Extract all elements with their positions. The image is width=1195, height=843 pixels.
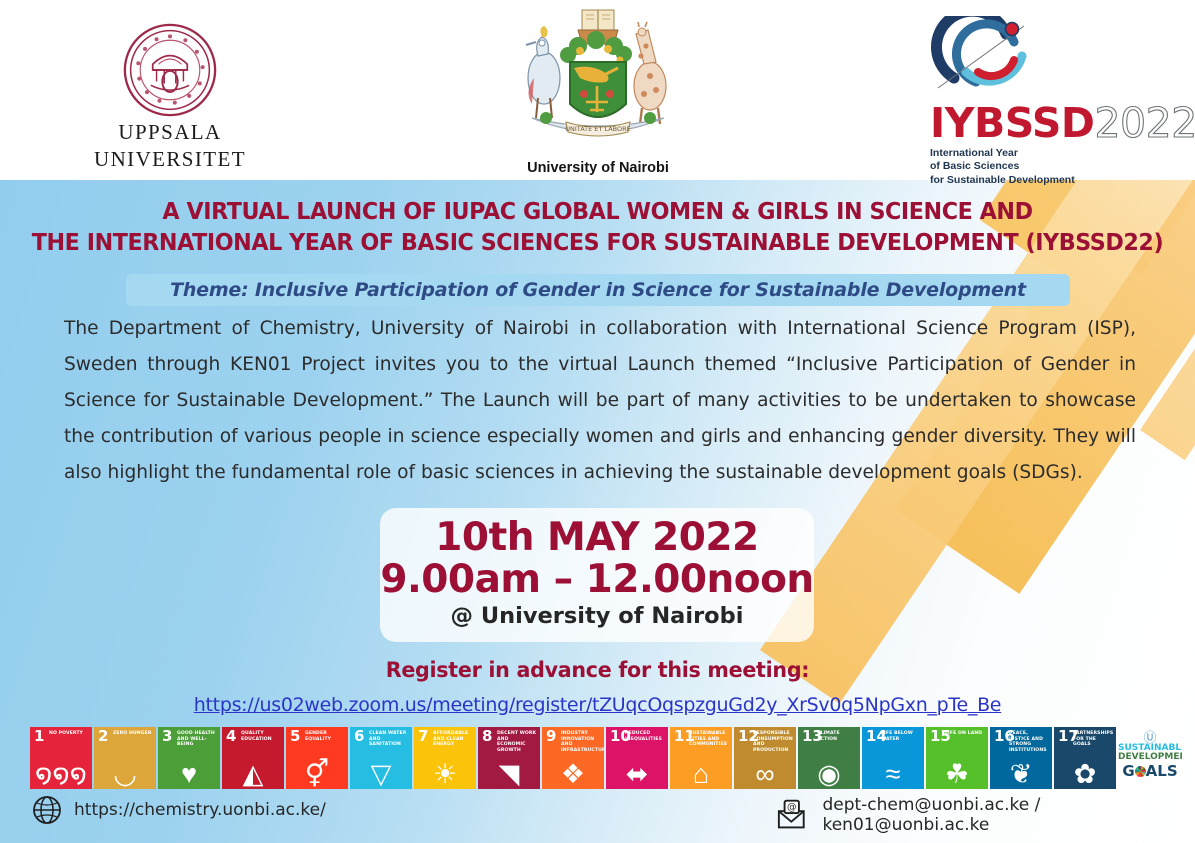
sdg-number: 5 — [290, 729, 300, 744]
sdg-goal-2[interactable]: 2 ZERO HUNGER ◡ — [94, 727, 156, 789]
poster-title: A VIRTUAL LAUNCH OF IUPAC GLOBAL WOMEN &… — [0, 196, 1195, 258]
sdg-number: 8 — [482, 729, 492, 744]
university-of-nairobi-logo: UNITATE ET LABORE University of Nairobi — [478, 6, 718, 178]
sdg-goal-10[interactable]: 10 REDUCED INEQUALITIES ⬌ — [606, 727, 668, 789]
uppsala-logo-line2: UNIVERSITET — [60, 148, 280, 172]
sdg-name: LIFE ON LAND — [945, 731, 986, 737]
email-icon: @ — [776, 799, 808, 831]
theme-text: Theme: Inclusive Participation of Gender… — [170, 279, 1026, 301]
sdg-number: 6 — [354, 729, 364, 744]
iybssd-year: 2022 — [1094, 99, 1195, 147]
sdg-name: RESPONSIBLE CONSUMPTION AND PRODUCTION — [753, 731, 794, 753]
iybssd-wordmark: IYBSSD2022 — [930, 103, 1175, 144]
sdg-name: CLEAN WATER AND SANITATION — [369, 731, 410, 748]
sdg-goal-1[interactable]: 1 NO POVERTY ໑໑໑ — [30, 727, 92, 789]
sdg-glyph-icon: ♥ — [158, 761, 220, 788]
sdg-glyph-icon: ✿ — [1054, 761, 1116, 788]
sdg-goal-4[interactable]: 4 QUALITY EDUCATION ◭ — [222, 727, 284, 789]
sdg-goal-12[interactable]: 12 RESPONSIBLE CONSUMPTION AND PRODUCTIO… — [734, 727, 796, 789]
sdg-number: 7 — [418, 729, 428, 744]
sdg-glyph-icon: ໑໑໑ — [30, 761, 92, 788]
nairobi-coat-of-arms-icon: UNITATE ET LABORE — [508, 6, 688, 154]
footer-email-text: dept-chem@uonbi.ac.ke / ken01@uonbi.ac.k… — [822, 795, 1195, 835]
sdg-name: PEACE, JUSTICE AND STRONG INSTITUTIONS — [1009, 731, 1050, 753]
sdg-name: AFFORDABLE AND CLEAN ENERGY — [433, 731, 474, 748]
sdg-glyph-icon: ⚥ — [286, 761, 348, 788]
sdg-glyph-icon: ▽ — [350, 761, 412, 788]
sdg-glyph-icon: ⌂ — [670, 761, 732, 788]
sdg-glyph-icon: ≈ — [862, 761, 924, 788]
title-line-2: THE INTERNATIONAL YEAR OF BASIC SCIENCES… — [30, 227, 1165, 258]
sdg-glyph-icon: ∞ — [734, 761, 796, 788]
event-poster: UPPSALA UNIVERSITET — [0, 0, 1195, 843]
sdg-glyph-icon: ☘ — [926, 761, 988, 788]
sdg-name: NO POVERTY — [49, 731, 90, 737]
iybssd-logo: IYBSSD2022 International Year of Basic S… — [930, 16, 1175, 178]
sdg-name: QUALITY EDUCATION — [241, 731, 282, 742]
sdg-glyph-icon: ◉ — [798, 761, 860, 788]
sdg-name: GENDER EQUALITY — [305, 731, 346, 742]
sdg-glyph-icon: ◥ — [478, 761, 540, 788]
sdg-goal-15[interactable]: 15 LIFE ON LAND ☘ — [926, 727, 988, 789]
iybssd-swoosh-icon — [930, 16, 1090, 96]
sdg-logo-line3: GALS — [1118, 764, 1182, 780]
sdg-name: DECENT WORK AND ECONOMIC GROWTH — [497, 731, 538, 753]
sdg-goal-3[interactable]: 3 GOOD HEALTH AND WELL-BEING ♥ — [158, 727, 220, 789]
description-paragraph: The Department of Chemistry, University … — [64, 311, 1136, 491]
sdg-goal-17[interactable]: 17 PARTNERSHIPS FOR THE GOALS ✿ — [1054, 727, 1116, 789]
sdg-glyph-icon: ◭ — [222, 761, 284, 788]
sdg-goal-6[interactable]: 6 CLEAN WATER AND SANITATION ▽ — [350, 727, 412, 789]
iybssd-subtitle: International Year of Basic Sciences for… — [930, 147, 1175, 187]
sdg-icon-strip: 1 NO POVERTY ໑໑໑ 2 ZERO HUNGER ◡ 3 GOOD … — [30, 727, 1170, 789]
iybssd-subtitle-line3: for Sustainable Development — [930, 174, 1175, 187]
svg-text:@: @ — [787, 802, 797, 813]
sdg-glyph-icon: ◡ — [94, 761, 156, 788]
sdg-master-logo[interactable]: Ⓤ SUSTAINABLE DEVELOPMENT GALS — [1118, 727, 1182, 789]
sdg-goal-11[interactable]: 11 SUSTAINABLE CITIES AND COMMUNITIES ⌂ — [670, 727, 732, 789]
sdg-logo-g: G — [1122, 762, 1134, 780]
sdg-number: 2 — [98, 729, 108, 744]
sdg-name: PARTNERSHIPS FOR THE GOALS — [1073, 731, 1114, 748]
sdg-glyph-icon: ⬌ — [606, 761, 668, 788]
nairobi-logo-caption: University of Nairobi — [478, 160, 718, 176]
sdg-name: SUSTAINABLE CITIES AND COMMUNITIES — [689, 731, 730, 748]
sdg-goal-5[interactable]: 5 GENDER EQUALITY ⚥ — [286, 727, 348, 789]
logo-band: UPPSALA UNIVERSITET — [0, 0, 1195, 180]
sdg-name: REDUCED INEQUALITIES — [625, 731, 666, 742]
title-line-1: A VIRTUAL LAUNCH OF IUPAC GLOBAL WOMEN &… — [30, 196, 1165, 227]
sdg-glyph-icon: ❖ — [542, 761, 604, 788]
svg-text:UNITATE ET LABORE: UNITATE ET LABORE — [565, 125, 631, 133]
event-date: 10th MAY 2022 — [380, 508, 814, 559]
uppsala-logo-line1: UPPSALA — [60, 121, 280, 145]
iybssd-subtitle-line2: of Basic Sciences — [930, 160, 1175, 173]
sdg-glyph-icon: ❦ — [990, 761, 1052, 788]
sdg-goal-9[interactable]: 9 INDUSTRY INNOVATION AND INFRASTRUCTURE… — [542, 727, 604, 789]
event-venue: @ University of Nairobi — [380, 603, 814, 629]
footer-website[interactable]: https://chemistry.uonbi.ac.ke/ — [32, 795, 326, 825]
sdg-goal-14[interactable]: 14 LIFE BELOW WATER ≈ — [862, 727, 924, 789]
footer-email[interactable]: @ dept-chem@uonbi.ac.ke / ken01@uonbi.ac… — [776, 795, 1195, 835]
register-label: Register in advance for this meeting: — [24, 658, 1171, 683]
theme-banner: Theme: Inclusive Participation of Gender… — [126, 274, 1070, 306]
iybssd-letters: IYBSSD — [930, 99, 1094, 147]
globe-icon — [32, 795, 62, 825]
sdg-name: ZERO HUNGER — [113, 731, 154, 737]
footer-website-text: https://chemistry.uonbi.ac.ke/ — [74, 800, 326, 820]
sdg-goal-8[interactable]: 8 DECENT WORK AND ECONOMIC GROWTH ◥ — [478, 727, 540, 789]
sdg-name: GOOD HEALTH AND WELL-BEING — [177, 731, 218, 748]
sdg-glyph-icon: ☀ — [414, 761, 476, 788]
sdg-name: LIFE BELOW WATER — [881, 731, 922, 742]
event-details-card: 10th MAY 2022 9.00am – 12.00noon @ Unive… — [380, 508, 814, 642]
sdg-logo-als: ALS — [1146, 762, 1178, 780]
sdg-goal-13[interactable]: 13 CLIMATE ACTION ◉ — [798, 727, 860, 789]
sdg-color-wheel-icon — [1135, 766, 1146, 777]
sdg-goal-7[interactable]: 7 AFFORDABLE AND CLEAN ENERGY ☀ — [414, 727, 476, 789]
uppsala-seal-icon — [122, 22, 218, 118]
sdg-goal-16[interactable]: 16 PEACE, JUSTICE AND STRONG INSTITUTION… — [990, 727, 1052, 789]
sdg-number: 4 — [226, 729, 236, 744]
uppsala-universitet-logo: UPPSALA UNIVERSITET — [60, 22, 280, 177]
iybssd-subtitle-line1: International Year — [930, 147, 1175, 160]
sdg-number: 3 — [162, 729, 172, 744]
sdg-number: 9 — [546, 729, 556, 744]
event-time: 9.00am – 12.00noon — [380, 559, 814, 601]
sdg-number: 1 — [34, 729, 44, 744]
registration-link[interactable]: https://us02web.zoom.us/meeting/register… — [0, 694, 1195, 716]
sdg-name: INDUSTRY INNOVATION AND INFRASTRUCTURE — [561, 731, 602, 753]
sdg-name: CLIMATE ACTION — [817, 731, 858, 742]
